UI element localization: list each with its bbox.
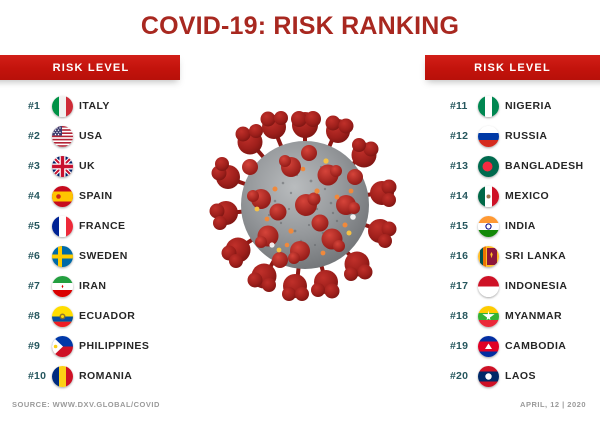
flag-philippines-icon	[52, 336, 73, 357]
risk-level-banner-right-label: RISK LEVEL	[425, 55, 600, 80]
flag-cambodia-icon	[478, 336, 499, 357]
flag-ecuador-icon	[52, 306, 73, 327]
rank-label: #18	[450, 310, 478, 322]
list-item: #20 LAOS	[450, 361, 584, 391]
country-label: ROMANIA	[79, 370, 132, 382]
list-item: #1 ITALY	[28, 91, 149, 121]
date-label: APRIL, 12 | 2020	[520, 400, 586, 409]
rank-label: #11	[450, 100, 478, 112]
rank-label: #15	[450, 220, 478, 232]
list-item: #4 SPAIN	[28, 181, 149, 211]
country-label: SWEDEN	[79, 250, 128, 262]
rank-label: #19	[450, 340, 478, 352]
country-label: INDONESIA	[505, 280, 567, 292]
rank-label: #2	[28, 130, 52, 142]
rank-label: #6	[28, 250, 52, 262]
country-label: ITALY	[79, 100, 110, 112]
flag-spain-icon	[52, 186, 73, 207]
country-label: LAOS	[505, 370, 536, 382]
rank-label: #7	[28, 280, 52, 292]
flag-mexico-icon	[478, 186, 499, 207]
list-item: #14 MEXICO	[450, 181, 584, 211]
country-label: NIGERIA	[505, 100, 552, 112]
country-label: BANGLADESH	[505, 160, 584, 172]
flag-uk-icon	[52, 156, 73, 177]
rank-label: #16	[450, 250, 478, 262]
flag-indonesia-icon	[478, 276, 499, 297]
list-item: #6 SWEDEN	[28, 241, 149, 271]
list-item: #8 ECUADOR	[28, 301, 149, 331]
list-item: #3 UK	[28, 151, 149, 181]
rank-label: #5	[28, 220, 52, 232]
country-label: MYANMAR	[505, 310, 562, 322]
country-label: UK	[79, 160, 95, 172]
list-item: #16 SRI LANKA	[450, 241, 584, 271]
flag-iran-icon	[52, 276, 73, 297]
risk-list-left: #1 ITALY #2 USA #3	[28, 91, 149, 391]
page-title: COVID-19: RISK RANKING	[0, 12, 600, 41]
rank-label: #3	[28, 160, 52, 172]
list-item: #5 FRANCE	[28, 211, 149, 241]
list-item: #15 INDIA	[450, 211, 584, 241]
flag-india-icon	[478, 216, 499, 237]
country-label: SPAIN	[79, 190, 113, 202]
flag-romania-icon	[52, 366, 73, 387]
country-label: PHILIPPINES	[79, 340, 149, 352]
sars-cov-2-virus-illustration	[205, 105, 405, 305]
list-item: #19 CAMBODIA	[450, 331, 584, 361]
flag-italy-icon	[52, 96, 73, 117]
flag-france-icon	[52, 216, 73, 237]
list-item: #2 USA	[28, 121, 149, 151]
flag-usa-icon	[52, 126, 73, 147]
flag-laos-icon	[478, 366, 499, 387]
list-item: #11 NIGERIA	[450, 91, 584, 121]
rank-label: #4	[28, 190, 52, 202]
list-item: #12 RUSSIA	[450, 121, 584, 151]
rank-label: #13	[450, 160, 478, 172]
country-label: ECUADOR	[79, 310, 135, 322]
rank-label: #14	[450, 190, 478, 202]
flag-bangladesh-icon	[478, 156, 499, 177]
flag-srilanka-icon	[478, 246, 499, 267]
country-label: INDIA	[505, 220, 536, 232]
country-label: IRAN	[79, 280, 106, 292]
country-label: CAMBODIA	[505, 340, 566, 352]
rank-label: #20	[450, 370, 478, 382]
list-item: #18 MYANMAR	[450, 301, 584, 331]
list-item: #17 INDONESIA	[450, 271, 584, 301]
flag-myanmar-icon	[478, 306, 499, 327]
country-label: USA	[79, 130, 103, 142]
risk-level-banner-left: RISK LEVEL	[0, 55, 180, 80]
country-label: SRI LANKA	[505, 250, 566, 262]
rank-label: #12	[450, 130, 478, 142]
rank-label: #9	[28, 340, 52, 352]
rank-label: #1	[28, 100, 52, 112]
risk-level-banner-left-label: RISK LEVEL	[0, 55, 180, 80]
country-label: MEXICO	[505, 190, 549, 202]
slide-canvas: COVID-19: RISK RANKING RISK LEVEL RISK L…	[0, 0, 600, 422]
rank-label: #10	[28, 370, 52, 382]
rank-label: #17	[450, 280, 478, 292]
country-label: RUSSIA	[505, 130, 547, 142]
list-item: #7 IRAN	[28, 271, 149, 301]
risk-level-banner-right: RISK LEVEL	[425, 55, 600, 80]
list-item: #10 ROMANIA	[28, 361, 149, 391]
source-label: SOURCE: WWW.DXV.GLOBAL/COVID	[12, 400, 160, 409]
flag-sweden-icon	[52, 246, 73, 267]
country-label: FRANCE	[79, 220, 125, 232]
flag-nigeria-icon	[478, 96, 499, 117]
risk-list-right: #11 NIGERIA #12 RUSSIA #13 BANGLADESH #1…	[450, 91, 584, 391]
list-item: #9 PHILIPPINES	[28, 331, 149, 361]
flag-russia-icon	[478, 126, 499, 147]
list-item: #13 BANGLADESH	[450, 151, 584, 181]
rank-label: #8	[28, 310, 52, 322]
